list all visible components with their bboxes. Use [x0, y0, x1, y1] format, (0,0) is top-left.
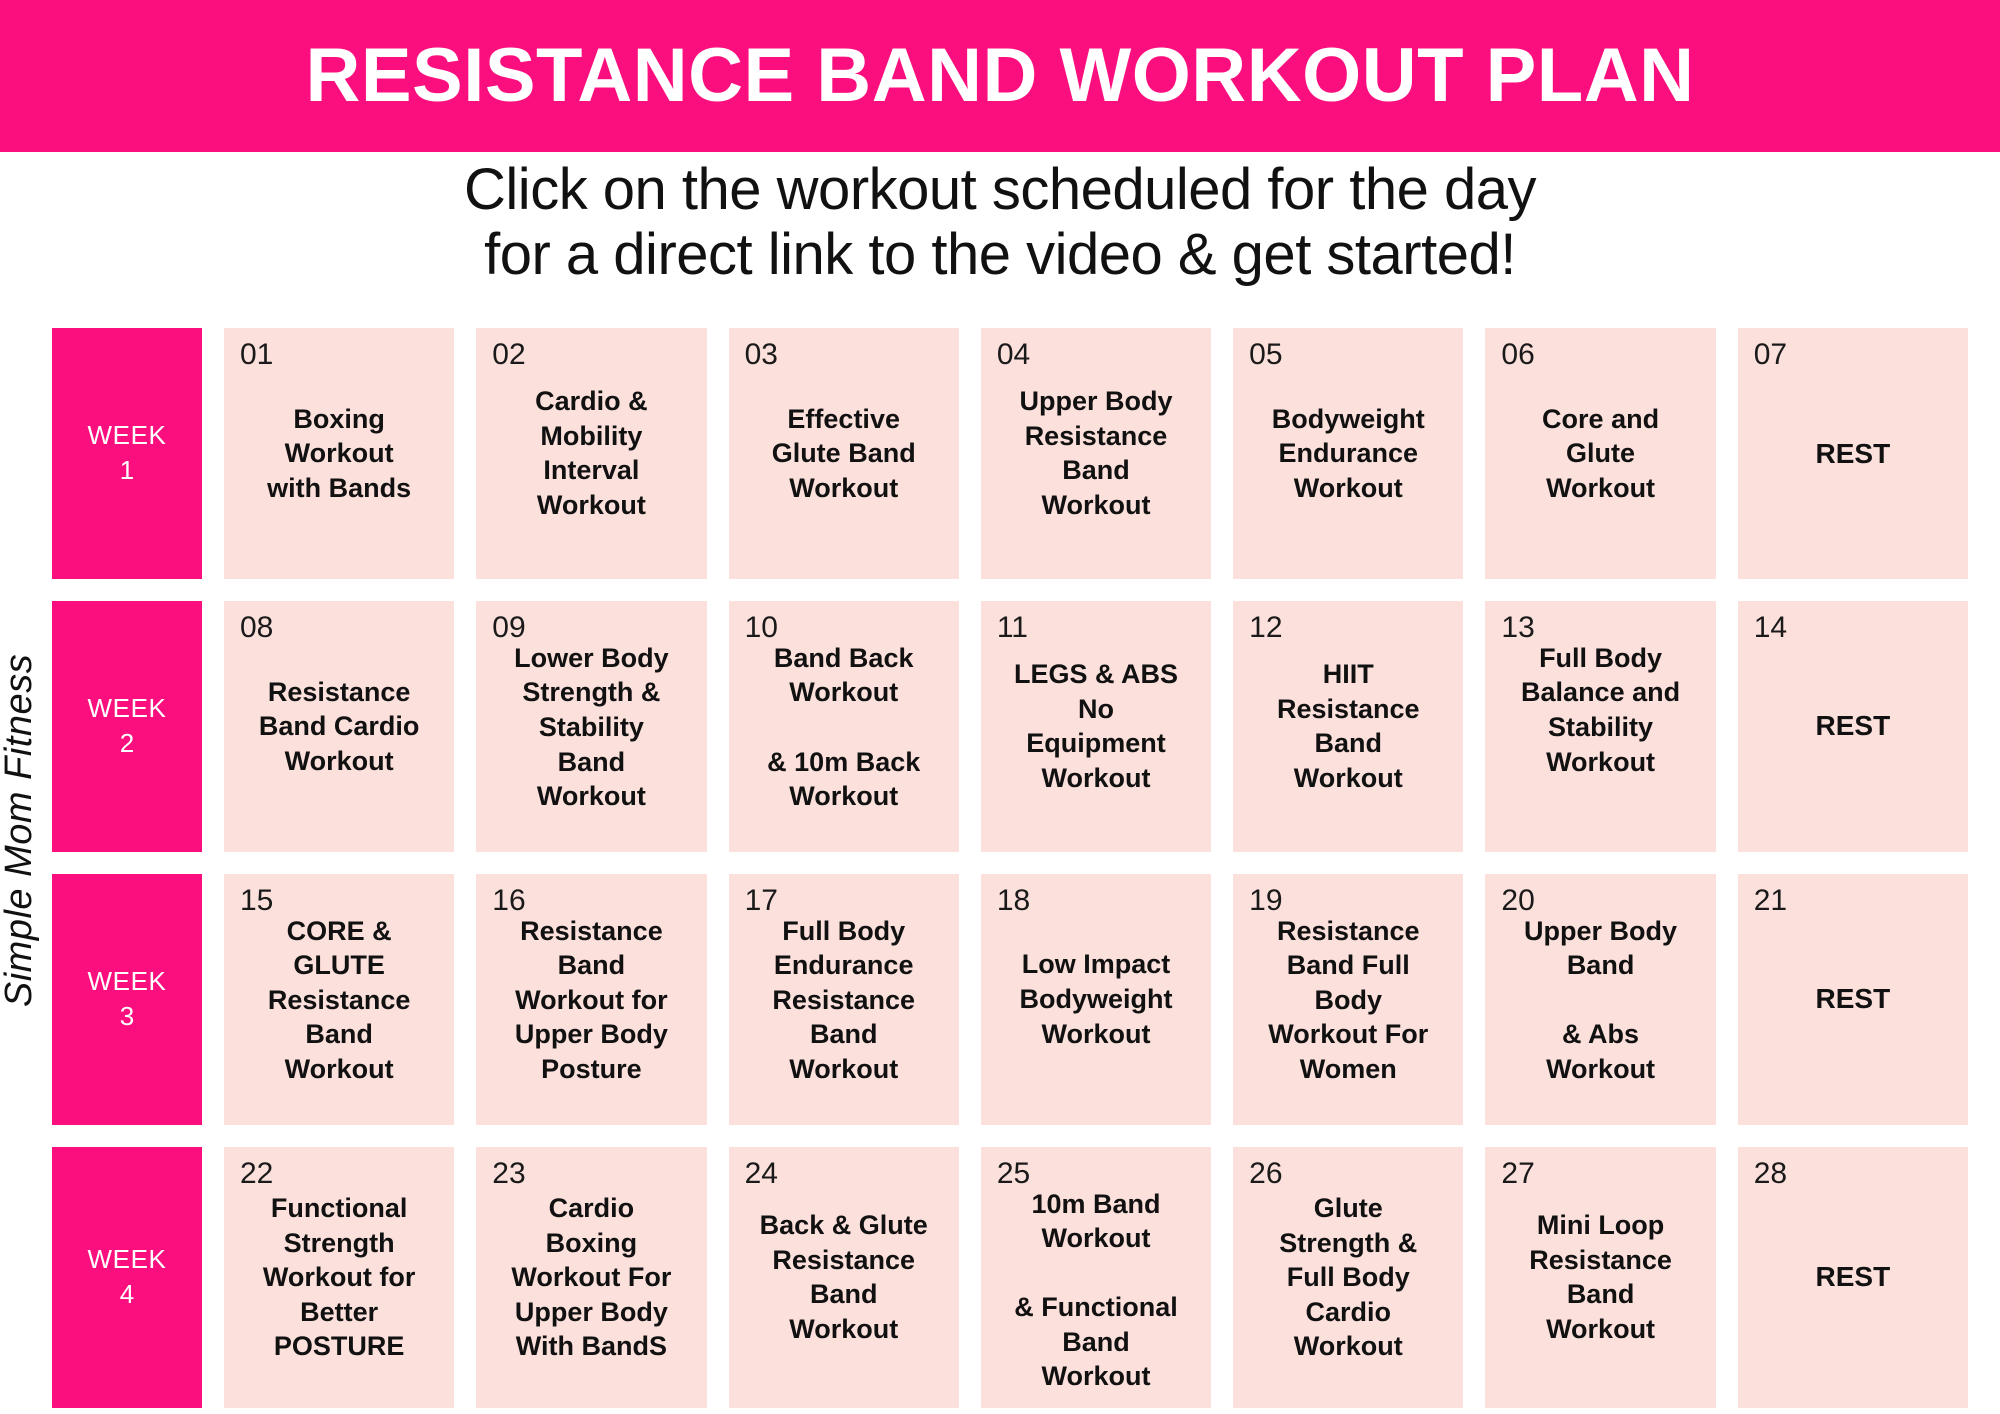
day-number: 02 — [492, 340, 525, 370]
week-header-1: WEEK1 — [52, 328, 202, 579]
day-number: 06 — [1501, 340, 1534, 370]
workout-title: HIIT Resistance Band Workout — [1241, 657, 1455, 795]
day-number: 01 — [240, 340, 273, 370]
day-number: 11 — [997, 613, 1028, 643]
header-banner: RESISTANCE BAND WORKOUT PLAN — [0, 0, 2000, 152]
day-card-01[interactable]: 01Boxing Workout with Bands — [224, 328, 454, 579]
workout-title: Band Back Workout & 10m Back Workout — [737, 641, 951, 814]
day-number: 28 — [1754, 1159, 1787, 1189]
week-header-2: WEEK2 — [52, 601, 202, 852]
week-number: 3 — [120, 999, 134, 1034]
week-header-4: WEEK4 — [52, 1147, 202, 1408]
day-card-26[interactable]: 26Glute Strength & Full Body Cardio Work… — [1233, 1147, 1463, 1408]
day-number: 08 — [240, 613, 273, 643]
day-card-04[interactable]: 04Upper Body Resistance Band Workout — [981, 328, 1211, 579]
day-card-17[interactable]: 17Full Body Endurance Resistance Band Wo… — [729, 874, 959, 1125]
day-card-10[interactable]: 10Band Back Workout & 10m Back Workout — [729, 601, 959, 852]
workout-title: Glute Strength & Full Body Cardio Workou… — [1241, 1191, 1455, 1364]
day-card-13[interactable]: 13Full Body Balance and Stability Workou… — [1485, 601, 1715, 852]
day-number: 20 — [1501, 886, 1534, 916]
day-card-09[interactable]: 09Lower Body Strength & Stability Band W… — [476, 601, 706, 852]
day-card-21[interactable]: 21REST — [1738, 874, 1968, 1125]
day-number: 24 — [745, 1159, 778, 1189]
workout-title: Resistance Band Workout for Upper Body P… — [484, 914, 698, 1087]
workout-title: Core and Glute Workout — [1493, 402, 1707, 506]
day-card-19[interactable]: 19Resistance Band Full Body Workout For … — [1233, 874, 1463, 1125]
day-card-05[interactable]: 05Bodyweight Endurance Workout — [1233, 328, 1463, 579]
day-number: 22 — [240, 1159, 273, 1189]
day-number: 03 — [745, 340, 778, 370]
week-label: WEEK — [88, 964, 167, 999]
week-number: 1 — [120, 453, 134, 488]
workout-title: Resistance Band Full Body Workout For Wo… — [1241, 914, 1455, 1087]
workout-plan-page: RESISTANCE BAND WORKOUT PLAN Click on th… — [0, 0, 2000, 1414]
rest-label: REST — [1746, 708, 1960, 744]
day-card-23[interactable]: 23Cardio Boxing Workout For Upper Body W… — [476, 1147, 706, 1408]
day-number: 25 — [997, 1159, 1030, 1189]
day-card-20[interactable]: 20Upper Body Band & Abs Workout — [1485, 874, 1715, 1125]
page-title: RESISTANCE BAND WORKOUT PLAN — [305, 38, 1694, 114]
brand-label: Simple Mom Fitness — [0, 653, 42, 1006]
workout-title: Lower Body Strength & Stability Band Wor… — [484, 641, 698, 814]
workout-title: Full Body Endurance Resistance Band Work… — [737, 914, 951, 1087]
subtitle-line-2: for a direct link to the video & get sta… — [0, 223, 2000, 288]
day-card-11[interactable]: 11LEGS & ABS No Equipment Workout — [981, 601, 1211, 852]
day-card-22[interactable]: 22Functional Strength Workout for Better… — [224, 1147, 454, 1408]
workout-title: Boxing Workout with Bands — [232, 402, 446, 506]
day-number: 07 — [1754, 340, 1787, 370]
day-number: 19 — [1249, 886, 1282, 916]
day-number: 16 — [492, 886, 525, 916]
week-number: 4 — [120, 1277, 134, 1312]
workout-title: Back & Glute Resistance Band Workout — [737, 1208, 951, 1346]
day-number: 12 — [1249, 613, 1282, 643]
workout-title: Bodyweight Endurance Workout — [1241, 402, 1455, 506]
day-number: 23 — [492, 1159, 525, 1189]
rest-label: REST — [1746, 436, 1960, 472]
workout-title: Effective Glute Band Workout — [737, 402, 951, 506]
day-card-03[interactable]: 03Effective Glute Band Workout — [729, 328, 959, 579]
day-number: 17 — [745, 886, 778, 916]
day-card-12[interactable]: 12HIIT Resistance Band Workout — [1233, 601, 1463, 852]
day-card-28[interactable]: 28REST — [1738, 1147, 1968, 1408]
subtitle-line-1: Click on the workout scheduled for the d… — [0, 158, 2000, 223]
rest-label: REST — [1746, 1259, 1960, 1295]
week-header-3: WEEK3 — [52, 874, 202, 1125]
day-card-18[interactable]: 18Low Impact Bodyweight Workout — [981, 874, 1211, 1125]
week-number: 2 — [120, 726, 134, 761]
workout-title: CORE & GLUTE Resistance Band Workout — [232, 914, 446, 1087]
day-card-27[interactable]: 27Mini Loop Resistance Band Workout — [1485, 1147, 1715, 1408]
day-card-07[interactable]: 07REST — [1738, 328, 1968, 579]
day-card-06[interactable]: 06Core and Glute Workout — [1485, 328, 1715, 579]
workout-title: Low Impact Bodyweight Workout — [989, 947, 1203, 1051]
day-card-16[interactable]: 16Resistance Band Workout for Upper Body… — [476, 874, 706, 1125]
day-number: 21 — [1754, 886, 1787, 916]
day-number: 15 — [240, 886, 273, 916]
day-number: 13 — [1501, 613, 1534, 643]
day-card-02[interactable]: 02Cardio & Mobility Interval Workout — [476, 328, 706, 579]
day-number: 26 — [1249, 1159, 1282, 1189]
day-card-15[interactable]: 15CORE & GLUTE Resistance Band Workout — [224, 874, 454, 1125]
workout-title: Upper Body Band & Abs Workout — [1493, 914, 1707, 1087]
day-card-14[interactable]: 14REST — [1738, 601, 1968, 852]
brand-watermark: Simple Mom Fitness — [0, 620, 42, 1040]
calendar-grid: WEEK101Boxing Workout with Bands02Cardio… — [52, 328, 1968, 1408]
week-label: WEEK — [88, 1242, 167, 1277]
day-number: 10 — [745, 613, 778, 643]
workout-title: Functional Strength Workout for Better P… — [232, 1191, 446, 1364]
workout-title: LEGS & ABS No Equipment Workout — [989, 657, 1203, 795]
day-number: 04 — [997, 340, 1030, 370]
workout-title: Cardio & Mobility Interval Workout — [484, 384, 698, 522]
workout-title: Upper Body Resistance Band Workout — [989, 384, 1203, 522]
week-label: WEEK — [88, 418, 167, 453]
workout-title: Cardio Boxing Workout For Upper Body Wit… — [484, 1191, 698, 1364]
workout-title: Resistance Band Cardio Workout — [232, 675, 446, 779]
subtitle-instructions: Click on the workout scheduled for the d… — [0, 158, 2000, 288]
workout-title: Full Body Balance and Stability Workout — [1493, 641, 1707, 779]
day-number: 05 — [1249, 340, 1282, 370]
rest-label: REST — [1746, 981, 1960, 1017]
day-number: 09 — [492, 613, 525, 643]
day-card-25[interactable]: 2510m Band Workout & Functional Band Wor… — [981, 1147, 1211, 1408]
workout-title: Mini Loop Resistance Band Workout — [1493, 1208, 1707, 1346]
day-number: 18 — [997, 886, 1030, 916]
day-number: 14 — [1754, 613, 1787, 643]
day-card-24[interactable]: 24Back & Glute Resistance Band Workout — [729, 1147, 959, 1408]
week-label: WEEK — [88, 691, 167, 726]
day-card-08[interactable]: 08Resistance Band Cardio Workout — [224, 601, 454, 852]
workout-title: 10m Band Workout & Functional Band Worko… — [989, 1187, 1203, 1394]
day-number: 27 — [1501, 1159, 1534, 1189]
